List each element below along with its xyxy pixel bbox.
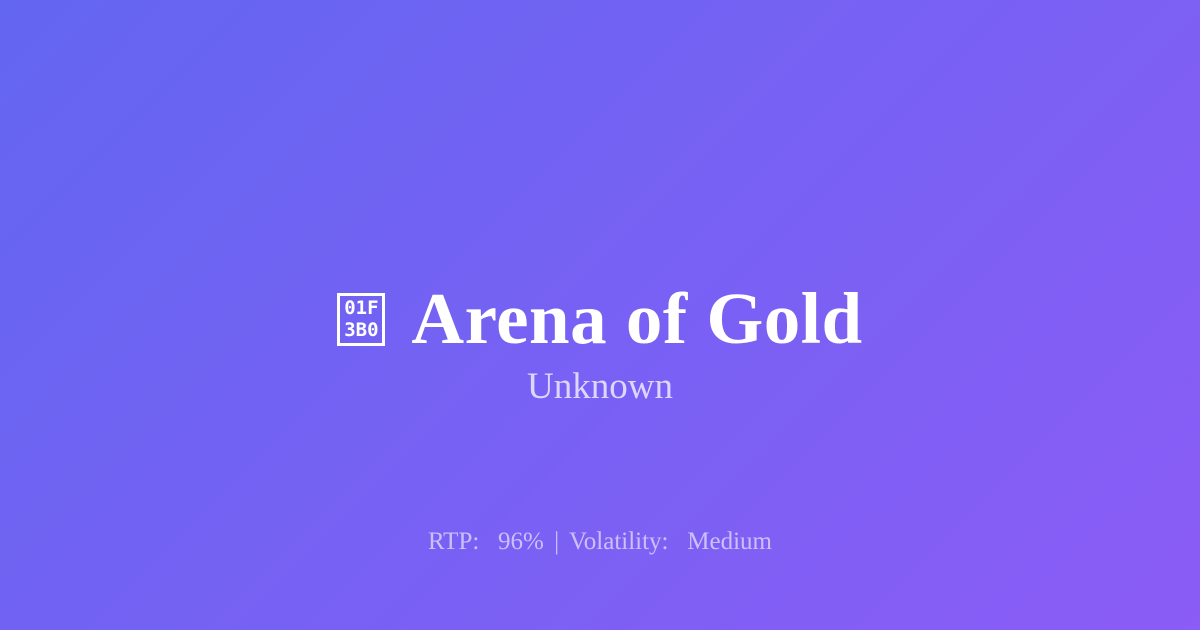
- volatility-value: Medium: [687, 528, 772, 555]
- page-title: Arena of Gold: [411, 282, 862, 355]
- meta-separator: |: [550, 528, 563, 555]
- volatility-label: Volatility:: [569, 528, 669, 555]
- rtp-label: RTP:: [428, 528, 479, 555]
- provider-subtitle: Unknown: [0, 367, 1200, 407]
- tofu-codepoint-bottom: 3B0: [344, 319, 378, 341]
- tofu-codepoint-top: 01F: [344, 297, 378, 319]
- slot-machine-icon: 01F 3B0: [337, 293, 385, 346]
- og-preview-card: 01F 3B0 Arena of Gold Unknown RTP: 96% |…: [0, 0, 1200, 630]
- game-meta-footer: RTP: 96% | Volatility: Medium: [0, 528, 1200, 556]
- rtp-value: 96%: [498, 528, 544, 555]
